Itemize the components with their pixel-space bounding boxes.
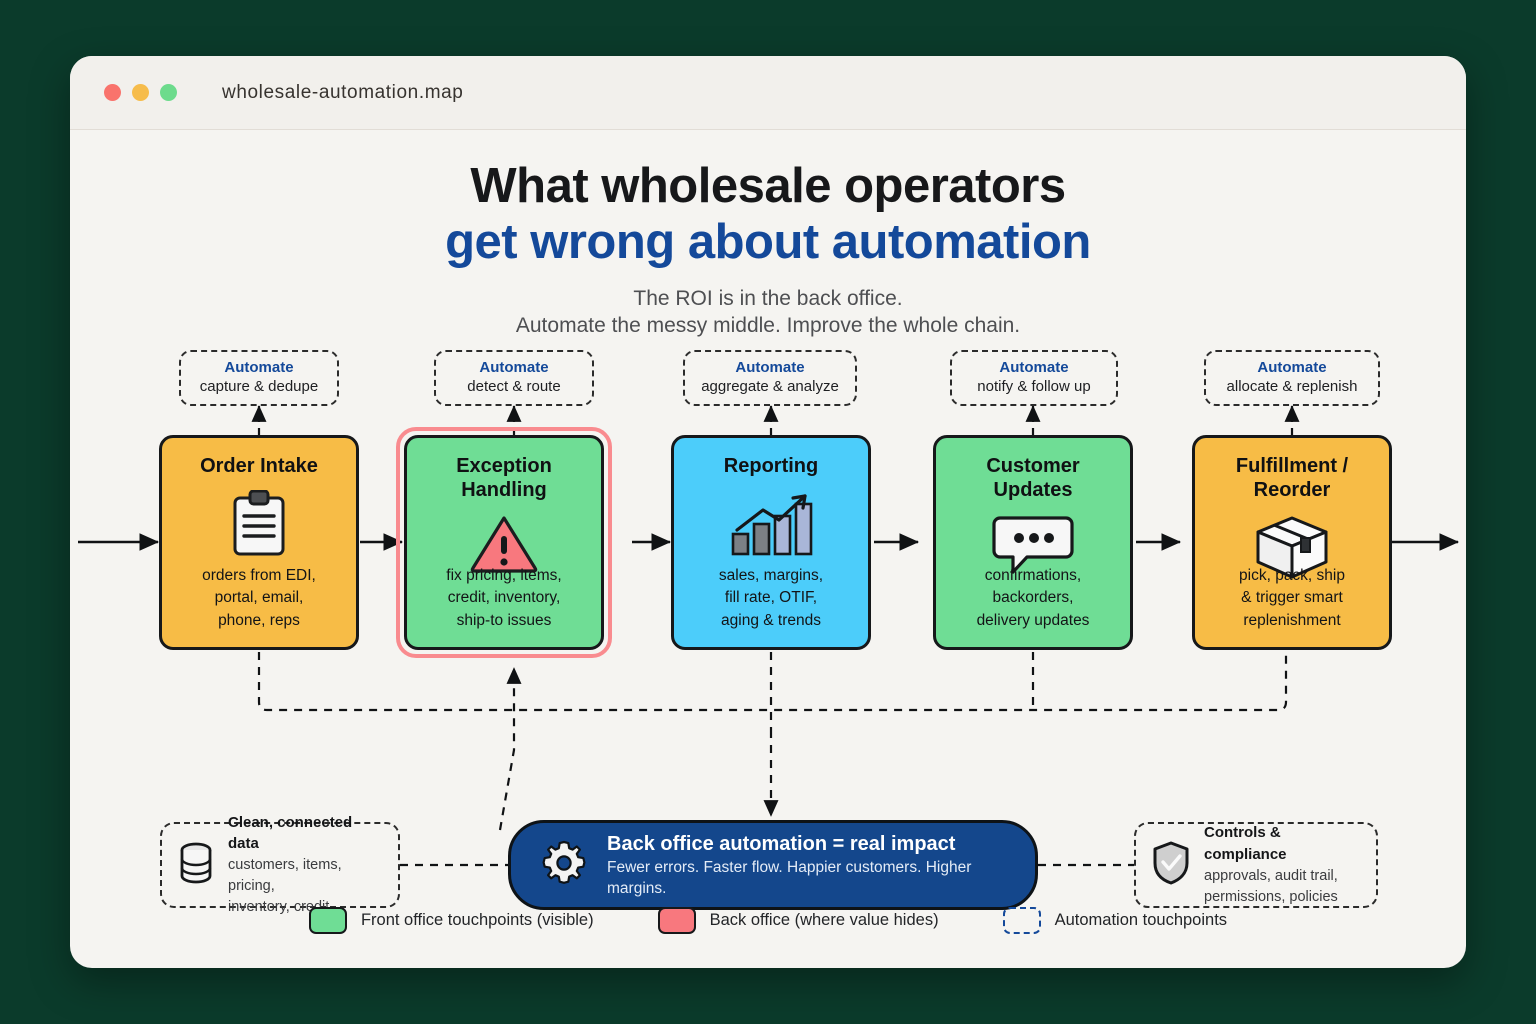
clipboard-icon <box>162 490 356 556</box>
legend-label: Automation touchpoints <box>1055 911 1227 930</box>
foundation-card-controls-compliance[interactable]: Controls & compliance approvals, audit t… <box>1134 822 1378 908</box>
automate-chip-label: Automate <box>479 359 548 378</box>
legend-label: Back office (where value hides) <box>710 911 939 930</box>
stage-title: ExceptionHandling <box>456 454 552 502</box>
legend-swatch-green <box>309 907 347 934</box>
automate-chip-label: Automate <box>735 359 804 378</box>
bar-chart-trend-icon <box>674 490 868 558</box>
automate-chip-sub: notify & follow up <box>977 378 1090 397</box>
automate-chip-customer-updates[interactable]: Automate notify & follow up <box>950 350 1118 406</box>
automate-chip-exception-handling[interactable]: Automate detect & route <box>434 350 594 406</box>
stage-description: fix pricing, items,credit, inventory,shi… <box>407 565 601 632</box>
automate-chip-label: Automate <box>1257 359 1326 378</box>
automate-chip-sub: capture & dedupe <box>200 378 318 397</box>
stage-description: confirmations,backorders,delivery update… <box>936 565 1130 632</box>
window-filename: wholesale-automation.map <box>222 82 463 104</box>
automate-chip-sub: allocate & replenish <box>1227 378 1358 397</box>
legend-swatch-red <box>658 907 696 934</box>
minimize-button[interactable] <box>132 84 149 101</box>
impact-banner[interactable]: Back office automation = real impact Few… <box>508 820 1038 910</box>
stage-exception-handling[interactable]: ExceptionHandling fix pricing, items,cre… <box>404 435 604 650</box>
stage-order-intake[interactable]: Order Intake orders from EDI,portal, ema… <box>159 435 359 650</box>
foundation-card-sub: approvals, audit trail,permissions, poli… <box>1204 868 1338 905</box>
impact-banner-title: Back office automation = real impact <box>607 833 955 855</box>
legend-swatch-dashed <box>1003 907 1041 934</box>
stage-title: CustomerUpdates <box>986 454 1079 502</box>
app-window: wholesale-automation.map What wholesale … <box>70 56 1466 968</box>
legend-label: Front office touchpoints (visible) <box>361 911 594 930</box>
gear-icon <box>541 840 587 891</box>
foundation-card-clean-data[interactable]: Clean, connected data customers, items, … <box>160 822 400 908</box>
automate-chip-label: Automate <box>999 359 1068 378</box>
stage-description: sales, margins,fill rate, OTIF,aging & t… <box>674 565 868 632</box>
foundation-card-title: Clean, connected data <box>228 814 352 853</box>
automate-chip-label: Automate <box>224 359 293 378</box>
automate-chip-fulfillment[interactable]: Automate allocate & replenish <box>1204 350 1380 406</box>
legend-item-automation[interactable]: Automation touchpoints <box>1003 907 1227 934</box>
stage-title: Reporting <box>724 454 818 478</box>
automate-chip-order-intake[interactable]: Automate capture & dedupe <box>179 350 339 406</box>
map-canvas: What wholesale operators get wrong about… <box>70 130 1466 968</box>
foundation-card-title: Controls & compliance <box>1204 824 1287 863</box>
legend-item-front-office[interactable]: Front office touchpoints (visible) <box>309 907 594 934</box>
stage-title: Fulfillment /Reorder <box>1236 454 1348 502</box>
automate-chip-sub: aggregate & analyze <box>701 378 839 397</box>
stage-fulfillment-reorder[interactable]: Fulfillment /Reorder pick, pack, ship& t… <box>1192 435 1392 650</box>
maximize-button[interactable] <box>160 84 177 101</box>
automate-chip-sub: detect & route <box>467 378 560 397</box>
legend: Front office touchpoints (visible) Back … <box>70 907 1466 934</box>
automate-chip-reporting[interactable]: Automate aggregate & analyze <box>683 350 857 406</box>
stage-customer-updates[interactable]: CustomerUpdates confirmations,backorders… <box>933 435 1133 650</box>
legend-item-back-office[interactable]: Back office (where value hides) <box>658 907 939 934</box>
stage-reporting[interactable]: Reporting sales, margins,fill rate, OTIF… <box>671 435 871 650</box>
stage-title: Order Intake <box>200 454 318 478</box>
close-button[interactable] <box>104 84 121 101</box>
diagram-canvas: wholesale-automation.map What wholesale … <box>0 0 1536 1024</box>
window-titlebar: wholesale-automation.map <box>70 56 1466 130</box>
stage-description: pick, pack, ship& trigger smartreplenish… <box>1195 565 1389 632</box>
impact-banner-sub: Fewer errors. Faster flow. Happier custo… <box>607 859 971 897</box>
database-icon <box>178 842 214 889</box>
stage-description: orders from EDI,portal, email,phone, rep… <box>162 565 356 632</box>
shield-check-icon <box>1152 841 1190 890</box>
